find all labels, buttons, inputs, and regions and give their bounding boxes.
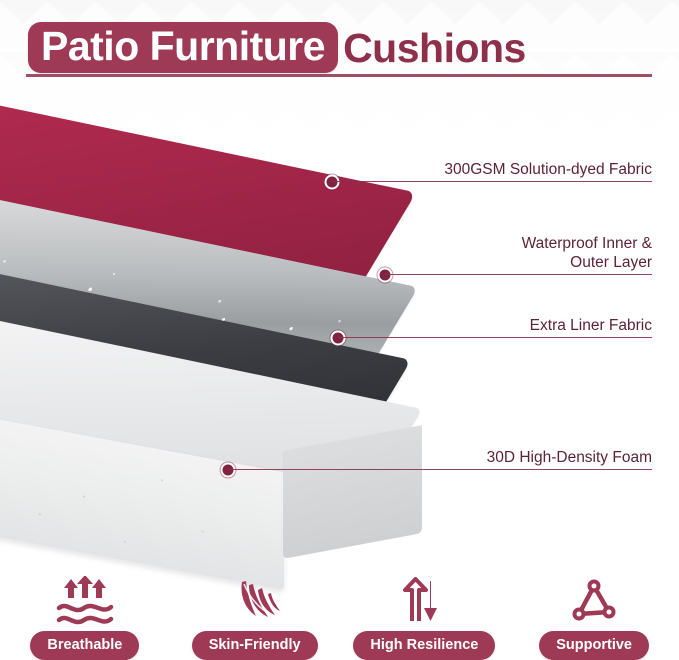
up-down-arrows-icon xyxy=(393,575,455,627)
feature-skin-friendly[interactable]: Skin-Friendly xyxy=(170,548,340,660)
callout-leader-line xyxy=(385,274,652,275)
callout-label-fabric: 300GSM Solution-dyed Fabric xyxy=(352,160,652,179)
callout-leader-line xyxy=(228,469,652,470)
feature-label-breathable[interactable]: Breathable xyxy=(30,631,139,660)
callout-label-liner: Extra Liner Fabric xyxy=(352,316,652,335)
infographic-page: Patio Furniture Cushions 300GSM Solution… xyxy=(0,0,679,660)
feature-label-supportive[interactable]: Supportive xyxy=(539,631,649,660)
feature-label-high-resilience[interactable]: High Resilience xyxy=(353,631,495,660)
feather-icon xyxy=(224,575,286,627)
callout-leader-line xyxy=(332,181,652,182)
callout-label-foam: 30D High-Density Foam xyxy=(352,448,652,467)
feature-label-skin-friendly[interactable]: Skin-Friendly xyxy=(192,631,318,660)
feature-high-resilience[interactable]: High Resilience xyxy=(340,548,510,660)
callout-leader-line xyxy=(338,337,652,338)
feature-supportive[interactable]: Supportive xyxy=(509,548,679,660)
callout-label-waterproof: Waterproof Inner & Outer Layer xyxy=(352,234,652,272)
triangle-nodes-icon xyxy=(563,575,625,627)
breathable-airflow-icon xyxy=(54,575,116,627)
feature-breathable[interactable]: Breathable xyxy=(0,548,170,660)
feature-badge-row: Breathable Skin-Friendly xyxy=(0,548,679,660)
